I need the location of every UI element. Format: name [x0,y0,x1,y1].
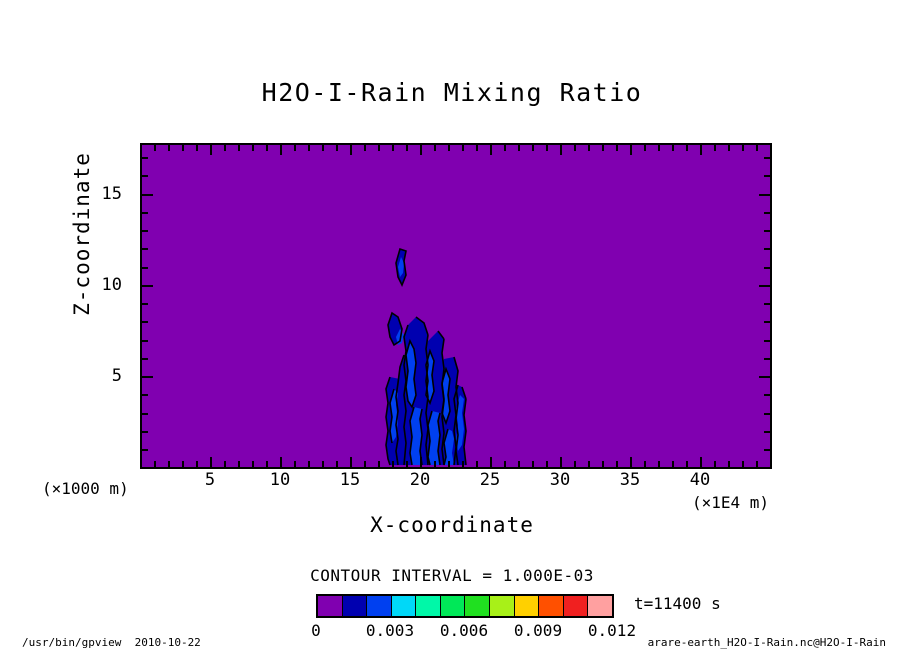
y-tick-right [764,157,770,159]
x-tick-label: 15 [320,470,380,490]
x-tick-top [686,145,688,151]
x-tick-label: 10 [250,470,310,490]
x-tick-top [420,145,422,155]
plot-area [140,143,772,469]
x-tick-top [658,145,660,151]
colorbar-segment [515,596,540,616]
x-tick-minor [308,461,310,467]
x-tick-minor [616,461,618,467]
x-tick-top [266,145,268,151]
x-tick-top [168,145,170,151]
y-tick-minor [142,175,148,177]
y-tick-minor [142,157,148,159]
y-tick-minor [142,248,148,250]
x-tick-minor [714,461,716,467]
x-tick-label: 25 [460,470,520,490]
x-tick-major [420,457,422,467]
colorbar-segment [465,596,490,616]
y-tick-right [759,376,770,378]
x-tick-major [490,457,492,467]
colorbar-segment [416,596,441,616]
x-tick-top [224,145,226,151]
colorbar-tick-label: 0.012 [572,621,652,640]
x-tick-top [322,145,324,151]
x-tick-minor [224,461,226,467]
y-tick-minor [142,340,148,342]
x-tick-top [616,145,618,151]
y-tick-minor [142,394,148,396]
x-tick-top [210,145,212,155]
y-axis-title: Z-coordinate [70,134,94,334]
y-tick-right [759,194,770,196]
footer-command: /usr/bin/gpview 2010-10-22 [22,636,201,649]
time-label: t=11400 s [634,594,721,613]
colorbar-tick-label: 0 [276,621,356,640]
x-tick-top [700,145,702,155]
x-tick-minor [518,461,520,467]
x-tick-minor [658,461,660,467]
y-tick-right [764,449,770,451]
x-tick-major [700,457,702,467]
x-tick-minor [546,461,548,467]
y-tick-right [764,340,770,342]
x-tick-top [504,145,506,151]
y-tick-major [142,194,153,196]
x-tick-minor [378,461,380,467]
page-title: H2O-I-Rain Mixing Ratio [0,78,904,107]
x-tick-top [728,145,730,151]
y-tick-minor [142,303,148,305]
contour-interval-text: CONTOUR INTERVAL = 1.000E-03 [0,566,904,585]
x-tick-top [308,145,310,151]
x-tick-top [252,145,254,151]
x-tick-minor [322,461,324,467]
colorbar-segment [588,596,612,616]
x-tick-top [476,145,478,151]
y-tick-minor [142,431,148,433]
x-tick-top [196,145,198,151]
y-tick-right [764,212,770,214]
x-tick-minor [756,461,758,467]
x-tick-minor [504,461,506,467]
x-axis-title: X-coordinate [0,513,904,537]
y-tick-right [759,285,770,287]
x-tick-top [238,145,240,151]
x-tick-minor [168,461,170,467]
y-tick-major [142,285,153,287]
x-tick-top [280,145,282,155]
x-tick-minor [686,461,688,467]
x-tick-minor [252,461,254,467]
x-tick-minor [476,461,478,467]
colorbar-segment [539,596,564,616]
x-tick-top [448,145,450,151]
x-tick-top [756,145,758,151]
x-tick-top [588,145,590,151]
colorbar-segment [343,596,368,616]
x-tick-major [210,457,212,467]
x-tick-minor [574,461,576,467]
y-tick-minor [142,267,148,269]
x-tick-major [630,457,632,467]
y-tick-right [764,267,770,269]
colorbar-segment [318,596,343,616]
x-tick-label: 35 [600,470,660,490]
y-tick-minor [142,321,148,323]
colorbar[interactable] [316,594,614,618]
x-tick-top [364,145,366,151]
y-tick-right [764,321,770,323]
x-tick-top [378,145,380,151]
x-tick-top [602,145,604,151]
y-tick-right [764,394,770,396]
x-tick-minor [364,461,366,467]
x-tick-minor [728,461,730,467]
colorbar-segment [367,596,392,616]
x-tick-top [406,145,408,151]
colorbar-tick-label: 0.009 [498,621,578,640]
x-tick-label: 20 [390,470,450,490]
x-tick-top [672,145,674,151]
x-tick-top [532,145,534,151]
x-tick-top [560,145,562,155]
y-tick-right [764,303,770,305]
x-tick-minor [392,461,394,467]
y-tick-right [764,230,770,232]
x-tick-top [546,145,548,151]
x-tick-minor [154,461,156,467]
x-tick-top [392,145,394,151]
y-tick-right [764,413,770,415]
colorbar-segment [564,596,589,616]
x-tick-top [742,145,744,151]
y-tick-right [764,175,770,177]
y-tick-minor [142,230,148,232]
x-tick-top [434,145,436,151]
x-tick-minor [294,461,296,467]
x-tick-top [630,145,632,155]
x-tick-top [350,145,352,155]
x-tick-minor [532,461,534,467]
x-tick-minor [742,461,744,467]
y-tick-right [764,358,770,360]
y-tick-right [764,431,770,433]
y-tick-minor [142,413,148,415]
x-tick-label: 40 [670,470,730,490]
x-tick-minor [238,461,240,467]
x-tick-minor [406,461,408,467]
x-tick-major [350,457,352,467]
x-tick-minor [182,461,184,467]
y-tick-label: 5 [62,366,122,386]
x-tick-label: 30 [530,470,590,490]
colorbar-tick-label: 0.003 [350,621,430,640]
x-tick-major [560,457,562,467]
x-tick-top [462,145,464,151]
x-tick-minor [336,461,338,467]
colorbar-tick-label: 0.006 [424,621,504,640]
x-tick-top [490,145,492,155]
y-tick-minor [142,212,148,214]
x-tick-minor [266,461,268,467]
x-tick-top [574,145,576,151]
colorbar-segment [392,596,417,616]
x-tick-minor [434,461,436,467]
x-tick-top [644,145,646,151]
x-tick-label: 5 [180,470,240,490]
y-axis-unit: (×1000 m) [42,479,129,498]
x-tick-minor [588,461,590,467]
x-tick-minor [462,461,464,467]
x-tick-minor [602,461,604,467]
y-tick-minor [142,449,148,451]
x-tick-top [154,145,156,151]
contour-field [142,145,770,467]
footer-dataset: arare-earth_H2O-I-Rain.nc@H2O-I-Rain [648,636,886,649]
x-tick-top [518,145,520,151]
x-axis-unit: (×1E4 m) [692,493,769,512]
x-tick-minor [448,461,450,467]
x-tick-top [294,145,296,151]
x-tick-top [336,145,338,151]
x-tick-major [280,457,282,467]
x-tick-top [182,145,184,151]
colorbar-segment [490,596,515,616]
x-tick-minor [644,461,646,467]
colorbar-segment [441,596,466,616]
y-tick-right [764,248,770,250]
y-tick-minor [142,358,148,360]
y-tick-major [142,376,153,378]
x-tick-minor [196,461,198,467]
x-tick-minor [672,461,674,467]
x-tick-top [714,145,716,151]
